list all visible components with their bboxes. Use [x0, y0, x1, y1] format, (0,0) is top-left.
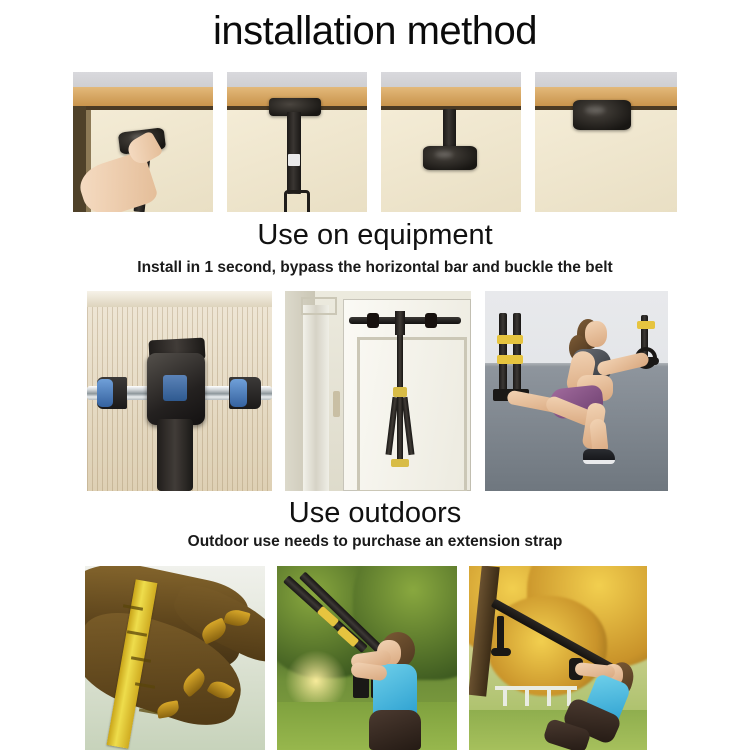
page-title: installation method [0, 8, 750, 54]
door-anchor-photo-1 [73, 72, 213, 212]
outdoor-photo-tree-strap [85, 566, 265, 750]
door-anchor-photo-4 [535, 72, 677, 212]
product-infographic-page: installation method [0, 0, 750, 750]
equipment-photo-buckle-on-bar [87, 291, 272, 491]
section-subtitle-outdoors: Outdoor use needs to purchase an extensi… [0, 532, 750, 552]
section-heading-equipment: Use on equipment [0, 218, 750, 252]
door-anchor-photo-3 [381, 72, 521, 212]
outdoor-photo-park-row [277, 566, 457, 750]
door-anchor-photo-2 [227, 72, 367, 212]
equipment-photo-gym-lunge [485, 291, 668, 491]
equipment-photo-doorway-bar [285, 291, 471, 491]
outdoor-photo-autumn-lean [469, 566, 647, 750]
section-subtitle-equipment: Install in 1 second, bypass the horizont… [0, 258, 750, 278]
section-heading-outdoors: Use outdoors [0, 496, 750, 530]
